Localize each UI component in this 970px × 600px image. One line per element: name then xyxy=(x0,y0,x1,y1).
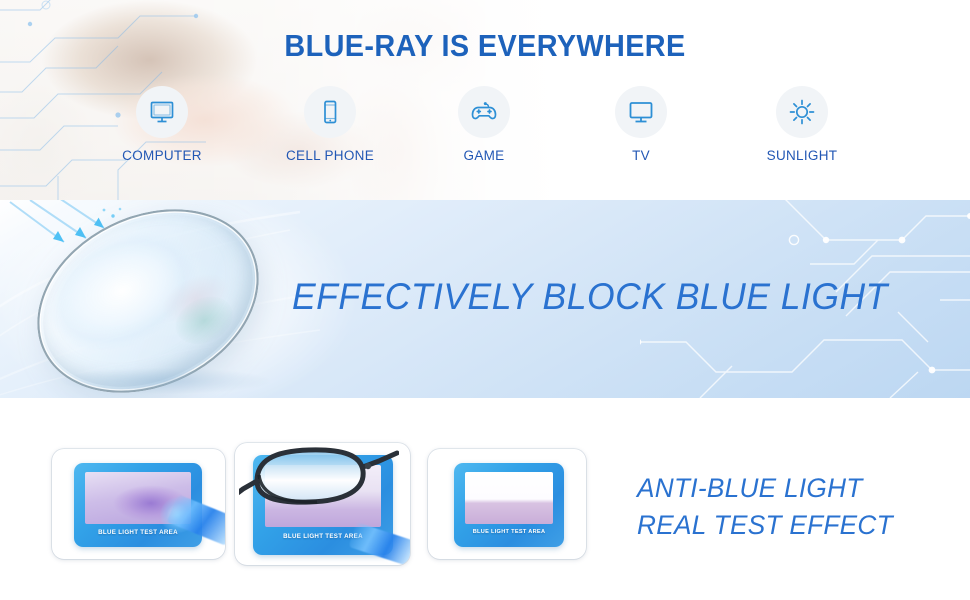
blue-light-product-banner: BLUE-RAY IS EVERYWHERE COMPUTER xyxy=(0,0,970,600)
light-source-label: TV xyxy=(566,148,716,163)
television-icon xyxy=(615,86,667,138)
lens-shadow-decoration xyxy=(60,368,270,394)
light-source-label: SUNLIGHT xyxy=(727,148,877,163)
smartphone-icon xyxy=(304,86,356,138)
tester-screen xyxy=(465,472,553,524)
gamepad-icon xyxy=(458,86,510,138)
sun-icon xyxy=(776,86,828,138)
light-source-label: COMPUTER xyxy=(87,148,237,163)
light-source-game[interactable]: GAME xyxy=(409,86,559,163)
test-headline-line-1: ANTI-BLUE LIGHT xyxy=(637,470,947,507)
monitor-icon xyxy=(136,86,188,138)
test-headline-line-2: REAL TEST EFFECT xyxy=(637,507,947,544)
band-headline: EFFECTIVELY BLOCK BLUE LIGHT xyxy=(292,276,888,318)
light-source-list: COMPUTER CELL PHONE xyxy=(0,86,970,176)
light-source-tv[interactable]: TV xyxy=(566,86,716,163)
light-source-cell-phone[interactable]: CELL PHONE xyxy=(255,86,405,163)
page-title: BLUE-RAY IS EVERYWHERE xyxy=(34,28,936,64)
light-source-sunlight[interactable]: SUNLIGHT xyxy=(727,86,877,163)
test-card[interactable]: BLUE LIGHT TEST AREA xyxy=(235,443,410,565)
light-source-label: GAME xyxy=(409,148,559,163)
tester-caption: BLUE LIGHT TEST AREA xyxy=(454,529,564,535)
eyeglasses-overlay xyxy=(239,447,399,513)
light-source-label: CELL PHONE xyxy=(255,148,405,163)
blue-light-tester-card: BLUE LIGHT TEST AREA xyxy=(454,463,564,547)
light-source-computer[interactable]: COMPUTER xyxy=(87,86,237,163)
hero-section: BLUE-RAY IS EVERYWHERE COMPUTER xyxy=(0,0,970,200)
test-headline: ANTI-BLUE LIGHT REAL TEST EFFECT xyxy=(637,470,947,545)
test-card[interactable]: BLUE LIGHT TEST AREA xyxy=(428,449,586,559)
blue-light-pen xyxy=(349,522,410,565)
test-card[interactable]: BLUE LIGHT TEST AREA xyxy=(52,449,225,559)
